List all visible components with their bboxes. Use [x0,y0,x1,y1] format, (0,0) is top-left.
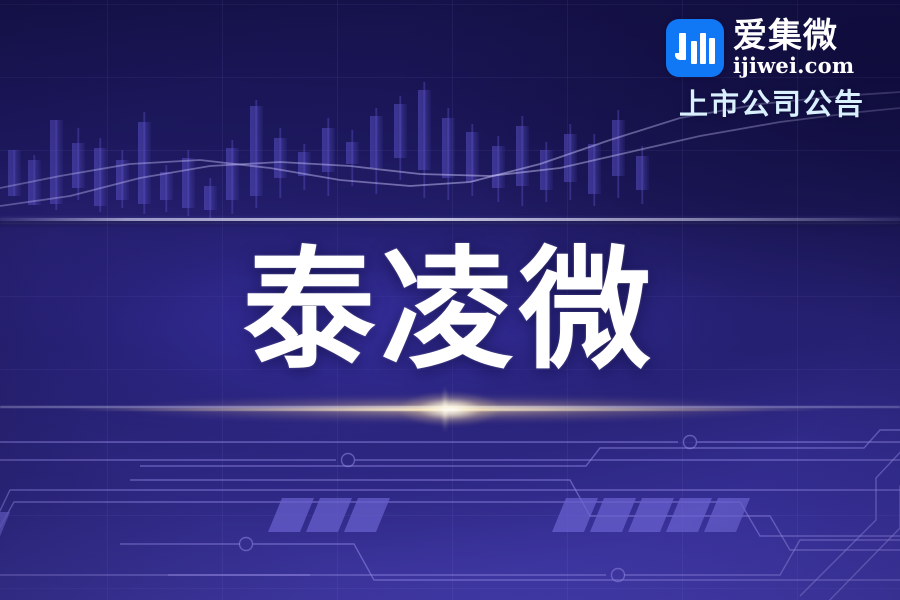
ijiwei-logo-mark-icon [666,19,724,77]
logo-bar-3 [709,38,715,64]
announcement-banner: 泰凌微 [0,0,900,600]
logo-j-hook [675,53,686,60]
brand-wordmark: 爱集微 ijiwei.com [733,18,854,77]
brand-name-cn: 爱集微 [733,18,854,54]
brand-logo-block[interactable]: 爱集微 ijiwei.com 上市公司公告 [666,18,878,121]
brand-domain: ijiwei.com [733,54,854,77]
brand-logo-row: 爱集微 ijiwei.com [666,18,878,77]
banner-subtitle: 上市公司公告 [666,87,878,121]
logo-bar-2 [700,33,706,64]
logo-bar-1 [691,41,697,64]
